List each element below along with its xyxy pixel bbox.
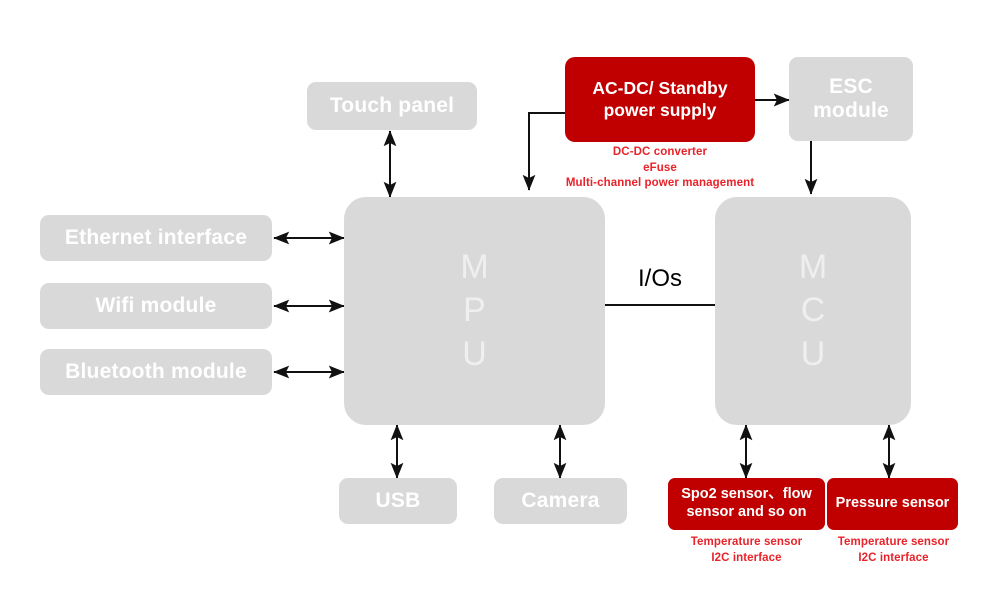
block-power-supply-label: AC-DC/ Standby power supply bbox=[571, 78, 749, 122]
block-bluetooth-module[interactable]: Bluetooth module bbox=[40, 349, 272, 395]
block-mcu[interactable]: M C U bbox=[715, 197, 911, 425]
block-esc-module-line-1: ESC bbox=[829, 75, 873, 98]
caption-power-supply-line-3: Multi-channel power management bbox=[566, 177, 754, 189]
block-camera-label: Camera bbox=[521, 489, 599, 513]
caption-pressure-sensor-line-2: I2C interface bbox=[858, 552, 928, 564]
caption-spo2-sensor-line-1: Temperature sensor bbox=[691, 536, 803, 548]
wire-label-ios: I/Os bbox=[610, 265, 710, 293]
block-spo2-sensor[interactable]: Spo2 sensor、flow sensor and so on bbox=[668, 478, 825, 530]
block-bluetooth-module-label: Bluetooth module bbox=[65, 360, 247, 384]
caption-spo2-sensor-line-2: I2C interface bbox=[711, 552, 781, 564]
block-power-supply-line-1: AC-DC/ bbox=[592, 78, 653, 98]
caption-pressure-sensor-line-1: Temperature sensor bbox=[838, 536, 950, 548]
block-usb-label: USB bbox=[376, 489, 421, 513]
block-spo2-sensor-label: Spo2 sensor、flow sensor and so on bbox=[673, 486, 820, 521]
block-usb[interactable]: USB bbox=[339, 478, 457, 524]
block-touch-panel-label: Touch panel bbox=[330, 94, 454, 118]
block-ethernet-interface-label: Ethernet interface bbox=[65, 226, 247, 250]
block-camera[interactable]: Camera bbox=[494, 478, 627, 524]
caption-spo2-sensor: Temperature sensor I2C interface bbox=[665, 535, 828, 566]
caption-power-supply-line-1: DC-DC converter bbox=[613, 146, 707, 158]
block-esc-module[interactable]: ESC module bbox=[789, 57, 913, 141]
block-touch-panel[interactable]: Touch panel bbox=[307, 82, 477, 130]
block-ethernet-interface[interactable]: Ethernet interface bbox=[40, 215, 272, 261]
block-wifi-module[interactable]: Wifi module bbox=[40, 283, 272, 329]
wire-label-ios-text: I/Os bbox=[638, 265, 682, 292]
caption-pressure-sensor: Temperature sensor I2C interface bbox=[812, 535, 975, 566]
block-mcu-letter-3: U bbox=[799, 333, 827, 377]
block-wifi-module-label: Wifi module bbox=[95, 294, 216, 318]
block-diagram-canvas: Touch panel Ethernet interface Wifi modu… bbox=[0, 0, 1000, 600]
block-power-supply-line-3: supply bbox=[660, 100, 716, 120]
block-mcu-label: M C U bbox=[799, 246, 827, 377]
caption-power-supply-line-2: eFuse bbox=[643, 162, 677, 174]
block-spo2-sensor-line-2: sensor and so on bbox=[686, 504, 806, 520]
block-pressure-sensor-label: Pressure sensor bbox=[836, 495, 950, 513]
caption-power-supply: DC-DC converter eFuse Multi-channel powe… bbox=[540, 145, 780, 192]
block-pressure-sensor[interactable]: Pressure sensor bbox=[827, 478, 958, 530]
block-esc-module-label: ESC module bbox=[789, 75, 913, 122]
block-spo2-sensor-line-1: Spo2 sensor、flow bbox=[681, 486, 812, 502]
block-mcu-letter-2: C bbox=[799, 289, 827, 333]
block-mpu-letter-1: M bbox=[460, 246, 488, 290]
block-esc-module-line-2: module bbox=[813, 99, 889, 122]
block-mpu-letter-3: U bbox=[460, 333, 488, 377]
block-mcu-letter-1: M bbox=[799, 246, 827, 290]
block-power-supply[interactable]: AC-DC/ Standby power supply bbox=[565, 57, 755, 142]
block-mpu-letter-2: P bbox=[460, 289, 488, 333]
block-mpu-label: M P U bbox=[460, 246, 488, 377]
block-mpu[interactable]: M P U bbox=[344, 197, 605, 425]
